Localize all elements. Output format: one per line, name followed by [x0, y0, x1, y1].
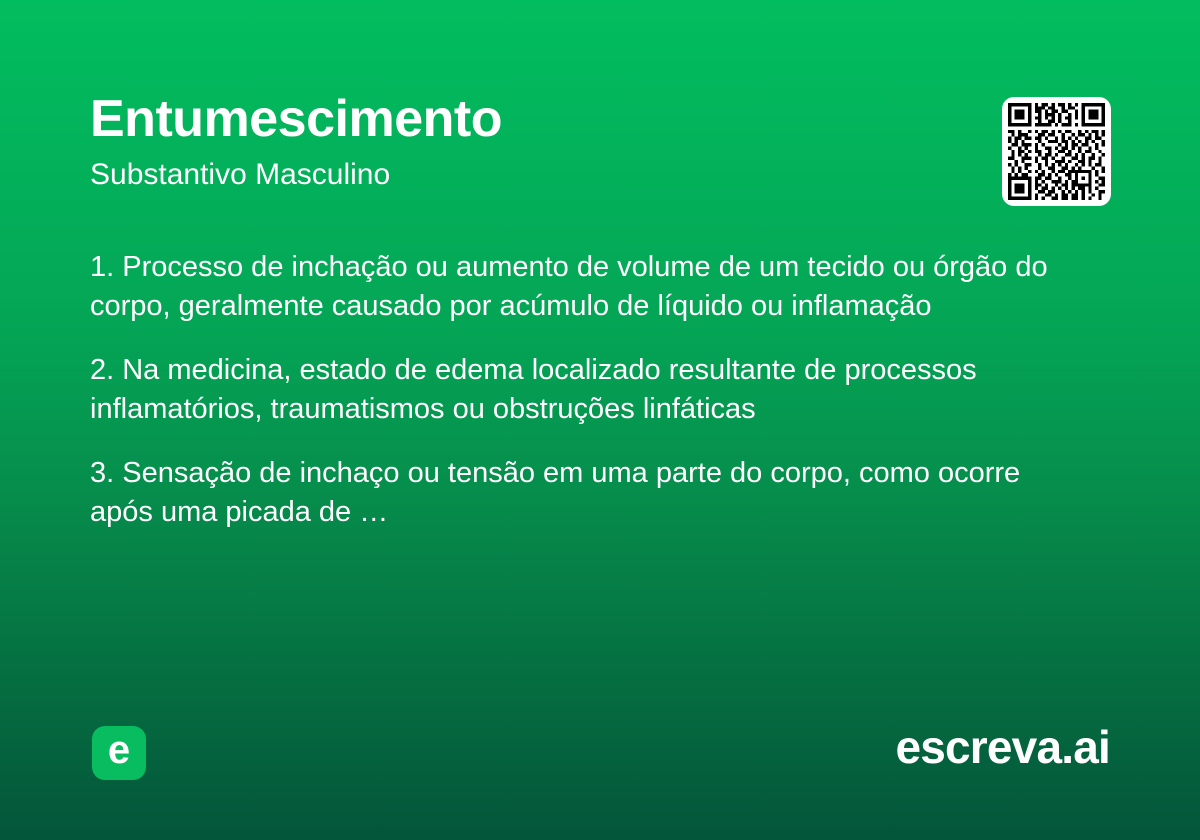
- card-header: Entumescimento Substantivo Masculino: [90, 92, 1110, 193]
- qr-code-card[interactable]: [1002, 97, 1111, 206]
- page-title: Entumescimento: [90, 92, 1110, 147]
- definition-item: 1. Processo de inchação ou aumento de vo…: [90, 248, 1090, 326]
- definition-item: 2. Na medicina, estado de edema localiza…: [90, 351, 1090, 429]
- brand-logo-icon[interactable]: e: [92, 726, 146, 780]
- definition-item: 3. Sensação de inchaço ou tensão em uma …: [90, 454, 1090, 532]
- word-class-label: Substantivo Masculino: [90, 157, 1110, 193]
- definitions-list: 1. Processo de inchação ou aumento de vo…: [90, 248, 1090, 532]
- dictionary-card: Entumescimento Substantivo Masculino: [0, 0, 1200, 840]
- brand-wordmark: escreva.ai: [895, 724, 1110, 770]
- brand-logo-letter: e: [108, 730, 130, 770]
- qr-code-icon: [1008, 103, 1105, 200]
